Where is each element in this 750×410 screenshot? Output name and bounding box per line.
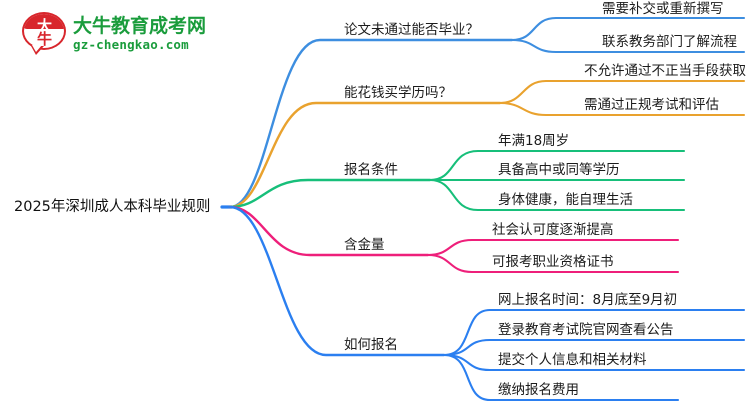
branch-node-4-label[interactable]: 含金量 (344, 237, 385, 253)
leaf-node-1-2-label[interactable]: 联系教务部门了解流程 (602, 34, 737, 50)
leaf-node-5-2-label[interactable]: 登录教育考试院官网查看公告 (498, 322, 674, 338)
root-node-label[interactable]: 2025年深圳成人本科毕业规则 (14, 199, 210, 215)
branch-fork-4-a (428, 240, 678, 255)
branch-node-1-label[interactable]: 论文未通过能否毕业？ (344, 22, 479, 38)
branch-trunk-1 (230, 40, 512, 207)
branch-node-5-label[interactable]: 如何报名 (344, 337, 398, 353)
leaf-node-2-1-label[interactable]: 不允许通过不正当手段获取 (584, 63, 746, 79)
branch-trunk-4 (230, 207, 428, 255)
leaf-node-4-1-label[interactable]: 社会认可度逐渐提高 (492, 222, 614, 238)
leaf-node-1-1-label[interactable]: 需要补交或重新撰写 (602, 1, 724, 17)
leaf-node-3-3-label[interactable]: 身体健康，能自理生活 (498, 192, 633, 208)
branch-trunk-3 (230, 180, 430, 207)
branch-node-3-label[interactable]: 报名条件 (344, 162, 398, 178)
leaf-node-5-1-label[interactable]: 网上报名时间：8月底至9月初 (498, 292, 677, 308)
leaf-node-3-1-label[interactable]: 年满18周岁 (498, 133, 569, 149)
leaf-node-2-2-label[interactable]: 需通过正规考试和评估 (584, 97, 719, 113)
leaf-node-5-3-label[interactable]: 提交个人信息和相关材料 (498, 352, 647, 368)
leaf-node-4-2-label[interactable]: 可报考职业资格证书 (492, 254, 614, 270)
leaf-node-3-2-label[interactable]: 具备高中或同等学历 (498, 162, 620, 178)
branch-trunk-5 (230, 207, 444, 355)
mindmap-canvas: 大 牛 大牛教育成考网 gz-chengkao.com (0, 0, 750, 410)
branch-node-2-label[interactable]: 能花钱买学历吗？ (344, 85, 452, 101)
leaf-node-5-4-label[interactable]: 缴纳报名费用 (498, 382, 579, 398)
